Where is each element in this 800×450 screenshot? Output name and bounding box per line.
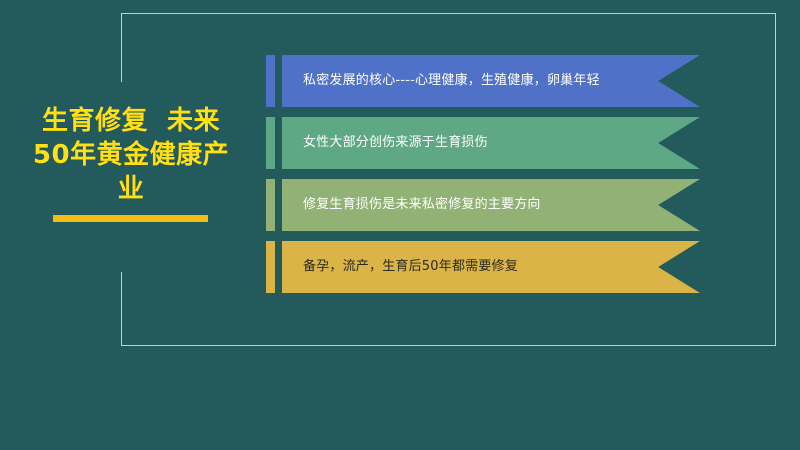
banner-accent-bar: [266, 179, 275, 231]
slide-canvas: 生育修复 未来50年黄金健康产业 私密发展的核心----心理健康，生殖健康，卵巢…: [0, 0, 800, 450]
banner-accent-bar: [266, 241, 275, 293]
banner-row[interactable]: 女性大部分创伤来源于生育损伤: [266, 117, 716, 169]
frame-left-upper-line: [121, 13, 122, 82]
banner-body: 修复生育损伤是未来私密修复的主要方向: [282, 179, 700, 231]
banner-label: 女性大部分创伤来源于生育损伤: [282, 134, 540, 152]
banner-row[interactable]: 备孕，流产，生育后50年都需要修复: [266, 241, 716, 293]
title-underline-bar: [53, 215, 208, 222]
banner-row[interactable]: 修复生育损伤是未来私密修复的主要方向: [266, 179, 716, 231]
frame-top-line: [121, 13, 776, 14]
banner-body: 备孕，流产，生育后50年都需要修复: [282, 241, 700, 293]
frame-left-lower-line: [121, 272, 122, 346]
banner-body: 私密发展的核心----心理健康，生殖健康，卵巢年轻: [282, 55, 700, 107]
banner-label: 私密发展的核心----心理健康，生殖健康，卵巢年轻: [282, 72, 652, 90]
slide-title: 生育修复 未来50年黄金健康产业: [24, 104, 238, 206]
frame-bottom-line: [121, 345, 776, 346]
banner-body: 女性大部分创伤来源于生育损伤: [282, 117, 700, 169]
banner-label: 备孕，流产，生育后50年都需要修复: [282, 258, 570, 276]
banner-accent-bar: [266, 117, 275, 169]
banner-row[interactable]: 私密发展的核心----心理健康，生殖健康，卵巢年轻: [266, 55, 716, 107]
banner-label: 修复生育损伤是未来私密修复的主要方向: [282, 196, 593, 214]
banner-list: 私密发展的核心----心理健康，生殖健康，卵巢年轻 女性大部分创伤来源于生育损伤…: [266, 55, 716, 303]
banner-accent-bar: [266, 55, 275, 107]
frame-right-line: [775, 13, 776, 346]
title-block: 生育修复 未来50年黄金健康产业: [24, 104, 238, 206]
